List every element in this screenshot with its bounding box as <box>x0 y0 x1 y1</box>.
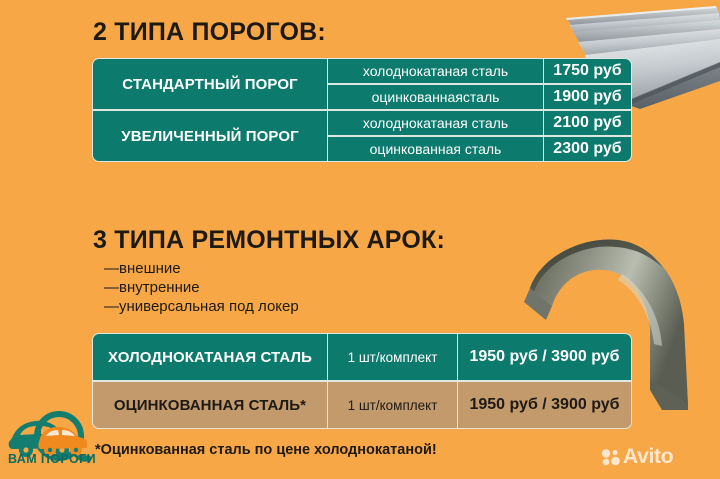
footnote: *Оцинкованная сталь по цене холоднокатан… <box>95 442 437 458</box>
list-item: —универсальная под локер <box>104 297 504 316</box>
table-cell-material: оцинкованная сталь <box>327 136 544 162</box>
table-row-label-increased: УВЕЛИЧЕННЫЙ ПОРОГ <box>92 110 328 162</box>
table-cell-material-name: ОЦИНКОВАННАЯ СТАЛЬ* <box>92 381 328 429</box>
dash-bullet-icon: — <box>104 297 119 316</box>
list-item: —внутренние <box>104 278 504 297</box>
table-cell-quantity: 1 шт/комплект <box>327 381 458 429</box>
table-cell-material: оцинкованнаясталь <box>327 84 544 110</box>
list-item: —внешние <box>104 259 504 278</box>
table-row-label-standard: СТАНДАРТНЫЙ ПОРОГ <box>92 58 328 110</box>
avito-dots-icon <box>601 449 620 466</box>
promo-flyer: 2 ТИПА ПОРОГОВ: СТАНДАРТНЫЙ ПОРОГ холодн… <box>0 0 720 479</box>
dash-bullet-icon: — <box>104 278 119 297</box>
dash-bullet-icon: — <box>104 259 119 278</box>
table-cell-material-name: ХОЛОДНОКАТАНАЯ СТАЛЬ <box>92 333 328 381</box>
arches-heading: 3 ТИПА РЕМОНТНЫХ АРОК: <box>93 226 445 255</box>
table-cell-material: холоднокатаная сталь <box>327 58 544 84</box>
table-cell-material: холоднокатаная сталь <box>327 110 544 136</box>
sills-heading: 2 ТИПА ПОРОГОВ: <box>93 18 326 47</box>
table-cell-price: 2300 руб <box>543 136 632 162</box>
table-cell-price: 1950 руб / 3900 руб <box>457 381 632 429</box>
table-cell-quantity: 1 шт/комплект <box>327 333 458 381</box>
table-cell-price: 1750 руб <box>543 58 632 84</box>
logo-wordmark: ВАМ ПОРОГИ <box>4 452 100 466</box>
table-cell-price: 1950 руб / 3900 руб <box>457 333 632 381</box>
list-item-label: внутренние <box>119 279 200 296</box>
list-item-label: универсальная под локер <box>119 298 299 315</box>
avito-wordmark: Avito <box>623 445 673 469</box>
table-cell-price: 1900 руб <box>543 84 632 110</box>
arch-types-list: —внешние —внутренние —универсальная под … <box>104 259 504 316</box>
avito-watermark: Avito <box>601 445 673 469</box>
list-item-label: внешние <box>119 260 181 277</box>
table-cell-price: 2100 руб <box>543 110 632 136</box>
